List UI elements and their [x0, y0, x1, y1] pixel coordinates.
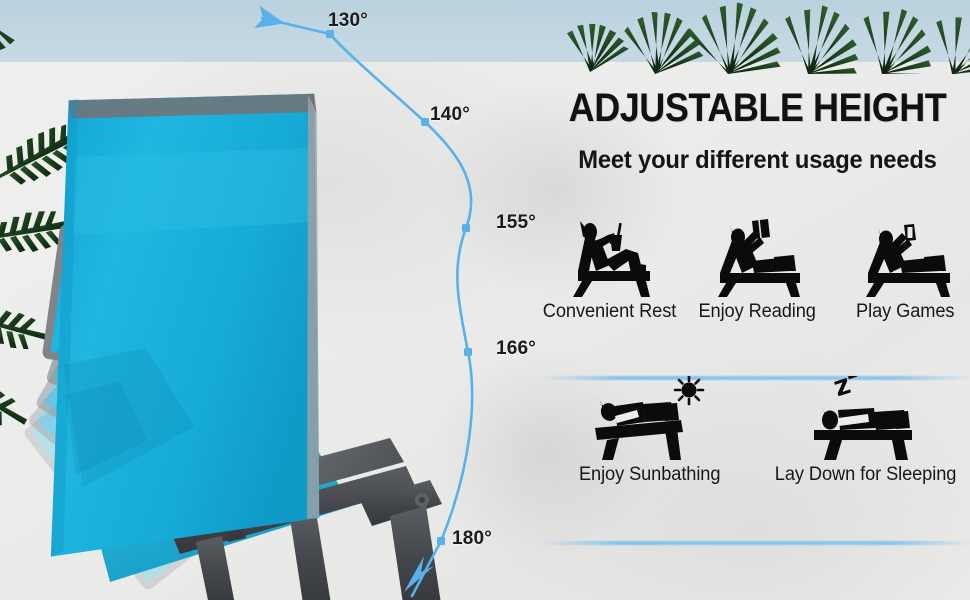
feature-label: Lay Down for Sleeping	[775, 464, 957, 486]
angle-label: 130°	[328, 10, 368, 32]
feature-convenient-rest: Convenient Rest	[546, 213, 674, 323]
page-title: ADJUSTABLE HEIGHT	[566, 88, 949, 128]
person-reclined-reading-book-icon	[702, 213, 814, 297]
angle-label: 140°	[430, 104, 470, 126]
person-reclined-with-phone-icon	[850, 213, 962, 297]
infographic-canvas: 130°140°155°166°180° ADJUSTABLE HEIGHT M…	[0, 0, 970, 600]
angle-label: 155°	[496, 212, 536, 234]
page-subtitle: Meet your different usage needs	[556, 146, 960, 175]
person-sitting-with-drink-icon	[556, 213, 664, 297]
feature-label: Enjoy Reading	[699, 301, 816, 323]
feature-lay-down-sleeping: Lay Down for Sleeping	[778, 376, 954, 486]
person-sleeping-zzz-icon	[800, 376, 932, 460]
person-lying-with-sun-icon	[585, 376, 715, 460]
feature-enjoy-sunbathing: Enjoy Sunbathing	[562, 376, 738, 486]
angle-label: 180°	[452, 528, 492, 550]
recline-front-130	[29, 73, 356, 580]
row-divider	[541, 541, 970, 545]
feature-row: Convenient Rest	[545, 213, 970, 323]
feature-enjoy-reading: Enjoy Reading	[694, 213, 822, 323]
feature-label: Play Games	[856, 301, 954, 323]
angle-label: 166°	[496, 338, 536, 360]
feature-label: Convenient Rest	[543, 301, 676, 323]
feature-play-games: Play Games	[842, 213, 970, 323]
feature-label: Enjoy Sunbathing	[579, 464, 720, 486]
content-panel: ADJUSTABLE HEIGHT Meet your different us…	[545, 88, 970, 558]
feature-row: Enjoy Sunbathing	[545, 376, 970, 486]
